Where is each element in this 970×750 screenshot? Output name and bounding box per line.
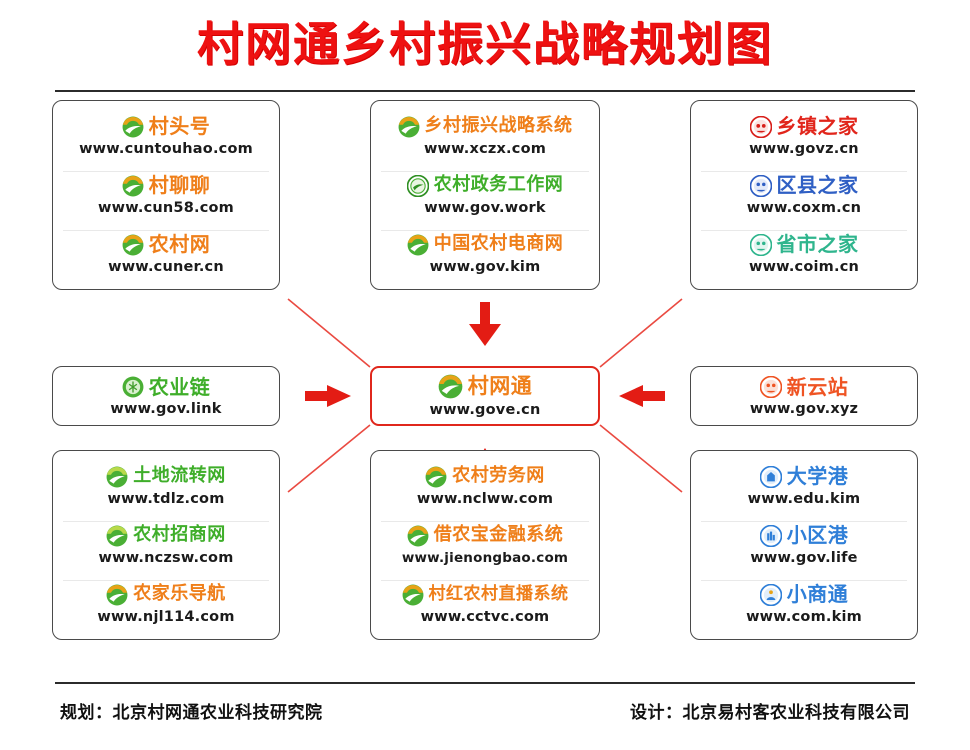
bottom-center-card[interactable]: 农村劳务网 www.nclww.com 借农宝金融系统 www.jienongb… [370,450,600,640]
brand-row: 农村网 [122,234,211,256]
hub-entry[interactable]: 村网通 www.gove.cn [382,371,588,421]
footer-planner: 规划：北京村网通农业科技研究院 [60,698,323,723]
list-item[interactable]: 农村网 www.cuner.cn [63,230,269,278]
brand-row: 省市之家 [750,234,859,256]
top-left-card[interactable]: 村头号 www.cuntouhao.com 村聊聊 www.cun58.com … [52,100,280,290]
middle-left-card[interactable]: 农业链 www.gov.link [52,366,280,426]
blue-seal-icon [760,525,782,547]
list-item[interactable]: 小商通 www.com.kim [701,580,907,628]
brand-row: 农业链 [122,376,211,398]
brand-name: 乡镇之家 [777,116,859,137]
list-item[interactable]: 农业链 www.gov.link [63,373,269,420]
brand-row: 乡村振兴战略系统 [398,116,573,138]
brand-url: www.edu.kim [748,491,861,507]
list-item[interactable]: 中国农村电商网 www.gov.kim [381,230,589,278]
brand-url: www.gov.work [424,200,545,216]
red-seal-icon [760,376,782,398]
brand-url: www.gove.cn [429,402,540,418]
line-hub-to-top-left [288,299,370,367]
cunwangtong-leaf-icon [425,466,447,488]
brand-url: www.coim.cn [749,259,859,275]
list-item[interactable]: 乡镇之家 www.govz.cn [701,113,907,160]
green-seal-icon [407,175,429,197]
list-item[interactable]: 新云站 www.gov.xyz [701,373,907,420]
brand-url: www.nczsw.com [99,550,234,566]
arrow-down-icon [469,302,501,346]
brand-row: 土地流转网 [106,466,226,488]
brand-name: 大学港 [787,466,849,487]
list-item[interactable]: 农村招商网 www.nczsw.com [63,521,269,569]
cunwangtong-leaf-icon [438,374,463,399]
brand-row: 农村招商网 [106,525,226,547]
brand-name: 中国农村电商网 [434,235,564,254]
brand-url: www.cuner.cn [108,259,224,275]
list-item[interactable]: 省市之家 www.coim.cn [701,230,907,278]
arrow-left-icon [619,385,665,407]
blue-seal-icon [760,466,782,488]
list-item[interactable]: 村聊聊 www.cun58.com [63,171,269,219]
brand-row: 小商通 [760,584,849,606]
brand-name: 新云站 [787,377,849,398]
brand-url: www.jienongbao.com [402,550,568,566]
brand-url: www.govz.cn [749,141,859,157]
list-item[interactable]: 乡村振兴战略系统 www.xczx.com [381,113,589,160]
page-title: 村网通乡村振兴战略规划图 [197,21,773,67]
brand-name: 村红农村直播系统 [429,586,569,604]
line-hub-to-top-right [600,299,682,367]
brand-name: 区县之家 [777,175,859,196]
brand-url: www.gov.kim [430,259,541,275]
footer-designer: 设计：北京易村客农业科技有限公司 [630,698,910,723]
diagram-area: 村头号 www.cuntouhao.com 村聊聊 www.cun58.com … [0,92,970,672]
top-right-card[interactable]: 乡镇之家 www.govz.cn 区县之家 www.coxm.cn 省市之家 w… [690,100,918,290]
brand-url: www.com.kim [746,609,862,625]
brand-name: 村聊聊 [149,175,211,196]
brand-name: 村网通 [468,375,533,397]
list-item[interactable]: 大学港 www.edu.kim [701,463,907,510]
brand-row: 大学港 [760,466,849,488]
bottom-left-card[interactable]: 土地流转网 www.tdlz.com 农村招商网 www.nczsw.com 农… [52,450,280,640]
brand-name: 小区港 [787,525,849,546]
teal-seal-icon [750,234,772,256]
brand-row: 村头号 [122,116,211,138]
brand-row: 农村劳务网 [425,466,545,488]
brand-name: 省市之家 [777,234,859,255]
line-hub-to-bottom-left [288,425,370,492]
brand-url: www.tdlz.com [107,491,224,507]
line-hub-to-bottom-right [600,425,682,492]
brand-url: www.coxm.cn [747,200,861,216]
hub-card-cunwangtong[interactable]: 村网通 www.gove.cn [370,366,600,426]
brand-row: 新云站 [760,376,849,398]
brand-row: 村聊聊 [122,175,211,197]
cunwangtong-leaf-icon [122,234,144,256]
bottom-right-card[interactable]: 大学港 www.edu.kim 小区港 www.gov.life 小商通 www… [690,450,918,640]
brand-name: 借农宝金融系统 [434,526,564,545]
brand-name: 乡村振兴战略系统 [425,117,573,136]
brand-name: 农村招商网 [133,526,226,545]
list-item[interactable]: 农村劳务网 www.nclww.com [381,463,589,510]
brand-url: www.gov.link [110,401,221,417]
cunwangtong-leaf-icon [106,584,128,606]
list-item[interactable]: 小区港 www.gov.life [701,521,907,569]
brand-url: www.cun58.com [98,200,234,216]
brand-row: 农家乐导航 [106,584,226,606]
brand-name: 农家乐导航 [133,585,226,604]
list-item[interactable]: 村红农村直播系统 www.cctvc.com [381,580,589,628]
footer: 规划：北京村网通农业科技研究院 设计：北京易村客农业科技有限公司 [0,668,970,750]
brand-url: www.nclww.com [417,491,553,507]
cunwangtong-leaf-icon [398,116,420,138]
brand-row: 中国农村电商网 [407,234,564,256]
list-item[interactable]: 借农宝金融系统 www.jienongbao.com [381,521,589,569]
green-round-icon [122,376,144,398]
footer-credits: 规划：北京村网通农业科技研究院 设计：北京易村客农业科技有限公司 [60,698,910,723]
red-seal-icon [750,116,772,138]
cunwangtong-leaf-icon [106,466,128,488]
cunwangtong-leaf-icon [407,234,429,256]
cunwangtong-leaf-icon [122,116,144,138]
list-item[interactable]: 土地流转网 www.tdlz.com [63,463,269,510]
brand-url: www.cctvc.com [421,609,550,625]
middle-right-card[interactable]: 新云站 www.gov.xyz [690,366,918,426]
arrow-right-icon [305,385,351,407]
brand-row: 农村政务工作网 [407,175,564,197]
footer-divider [55,682,915,684]
brand-name: 农村政务工作网 [434,176,564,195]
list-item[interactable]: 农村政务工作网 www.gov.work [381,171,589,219]
brand-row: 区县之家 [750,175,859,197]
brand-url: www.cuntouhao.com [79,141,253,157]
brand-row: 乡镇之家 [750,116,859,138]
brand-url: www.njl114.com [97,609,234,625]
list-item[interactable]: 区县之家 www.coxm.cn [701,171,907,219]
page-title-bar: 村网通乡村振兴战略规划图 [0,0,970,88]
blue-seal-icon [760,584,782,606]
cunwangtong-leaf-icon [402,584,424,606]
blue-seal-icon [750,175,772,197]
brand-row: 小区港 [760,525,849,547]
brand-name: 农业链 [149,377,211,398]
brand-name: 村头号 [149,116,211,137]
brand-row: 村网通 [438,374,533,399]
brand-row: 村红农村直播系统 [402,584,569,606]
brand-name: 农村劳务网 [452,467,545,486]
brand-url: www.gov.life [750,550,857,566]
top-center-card[interactable]: 乡村振兴战略系统 www.xczx.com 农村政务工作网 www.gov.wo… [370,100,600,290]
list-item[interactable]: 村头号 www.cuntouhao.com [63,113,269,160]
brand-url: www.xczx.com [424,141,546,157]
brand-name: 农村网 [149,234,211,255]
cunwangtong-leaf-icon [106,525,128,547]
brand-name: 土地流转网 [133,467,226,486]
brand-row: 借农宝金融系统 [407,525,564,547]
brand-name: 小商通 [787,584,849,605]
cunwangtong-leaf-icon [407,525,429,547]
cunwangtong-leaf-icon [122,175,144,197]
brand-url: www.gov.xyz [750,401,858,417]
list-item[interactable]: 农家乐导航 www.njl114.com [63,580,269,628]
